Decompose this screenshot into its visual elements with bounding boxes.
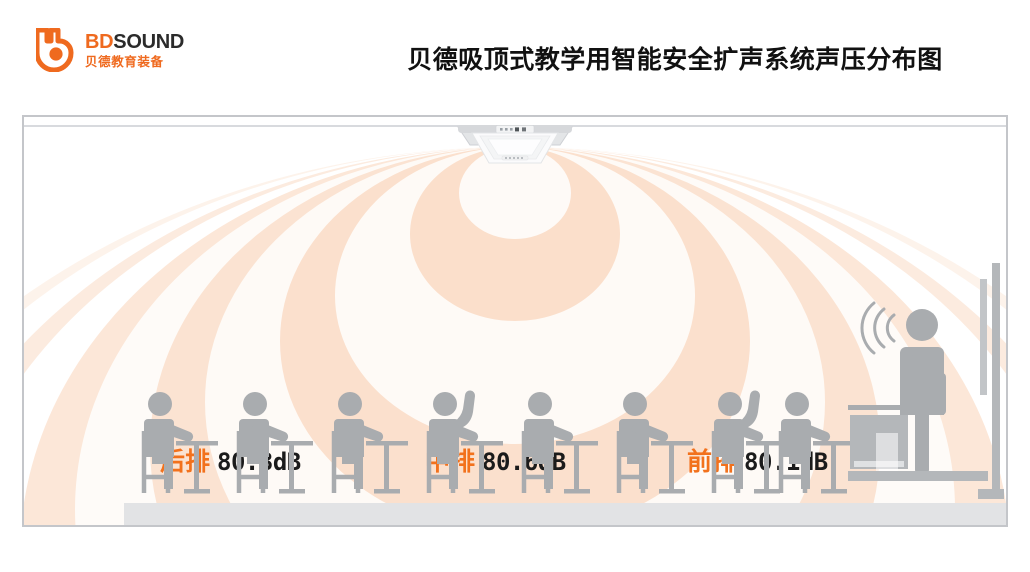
whiteboard-icon (978, 263, 1004, 503)
classroom-layer (24, 117, 1006, 525)
teacher-area (848, 243, 988, 503)
student-figure-5 (512, 385, 602, 503)
student-figure-6 (607, 385, 697, 503)
sound-pressure-diagram-panel: 后排80.3dB 中排80.6dB 前排80.1dB (22, 115, 1008, 527)
page-title: 贝德吸顶式教学用智能安全扩声系统声压分布图 (0, 40, 1030, 76)
page-header: BDSOUND 贝德教育装备 贝德吸顶式教学用智能安全扩声系统声压分布图 (0, 0, 1030, 112)
student-figure-3 (322, 385, 412, 503)
student-figure-4-hand-raised (417, 385, 507, 503)
diagram-canvas: 后排80.3dB 中排80.6dB 前排80.1dB (24, 117, 1006, 525)
student-figure-8 (769, 385, 859, 503)
student-figure-1 (132, 385, 222, 503)
sound-wave-arcs-icon (862, 303, 894, 353)
student-figure-2 (227, 385, 317, 503)
floor-strip (124, 503, 1006, 525)
